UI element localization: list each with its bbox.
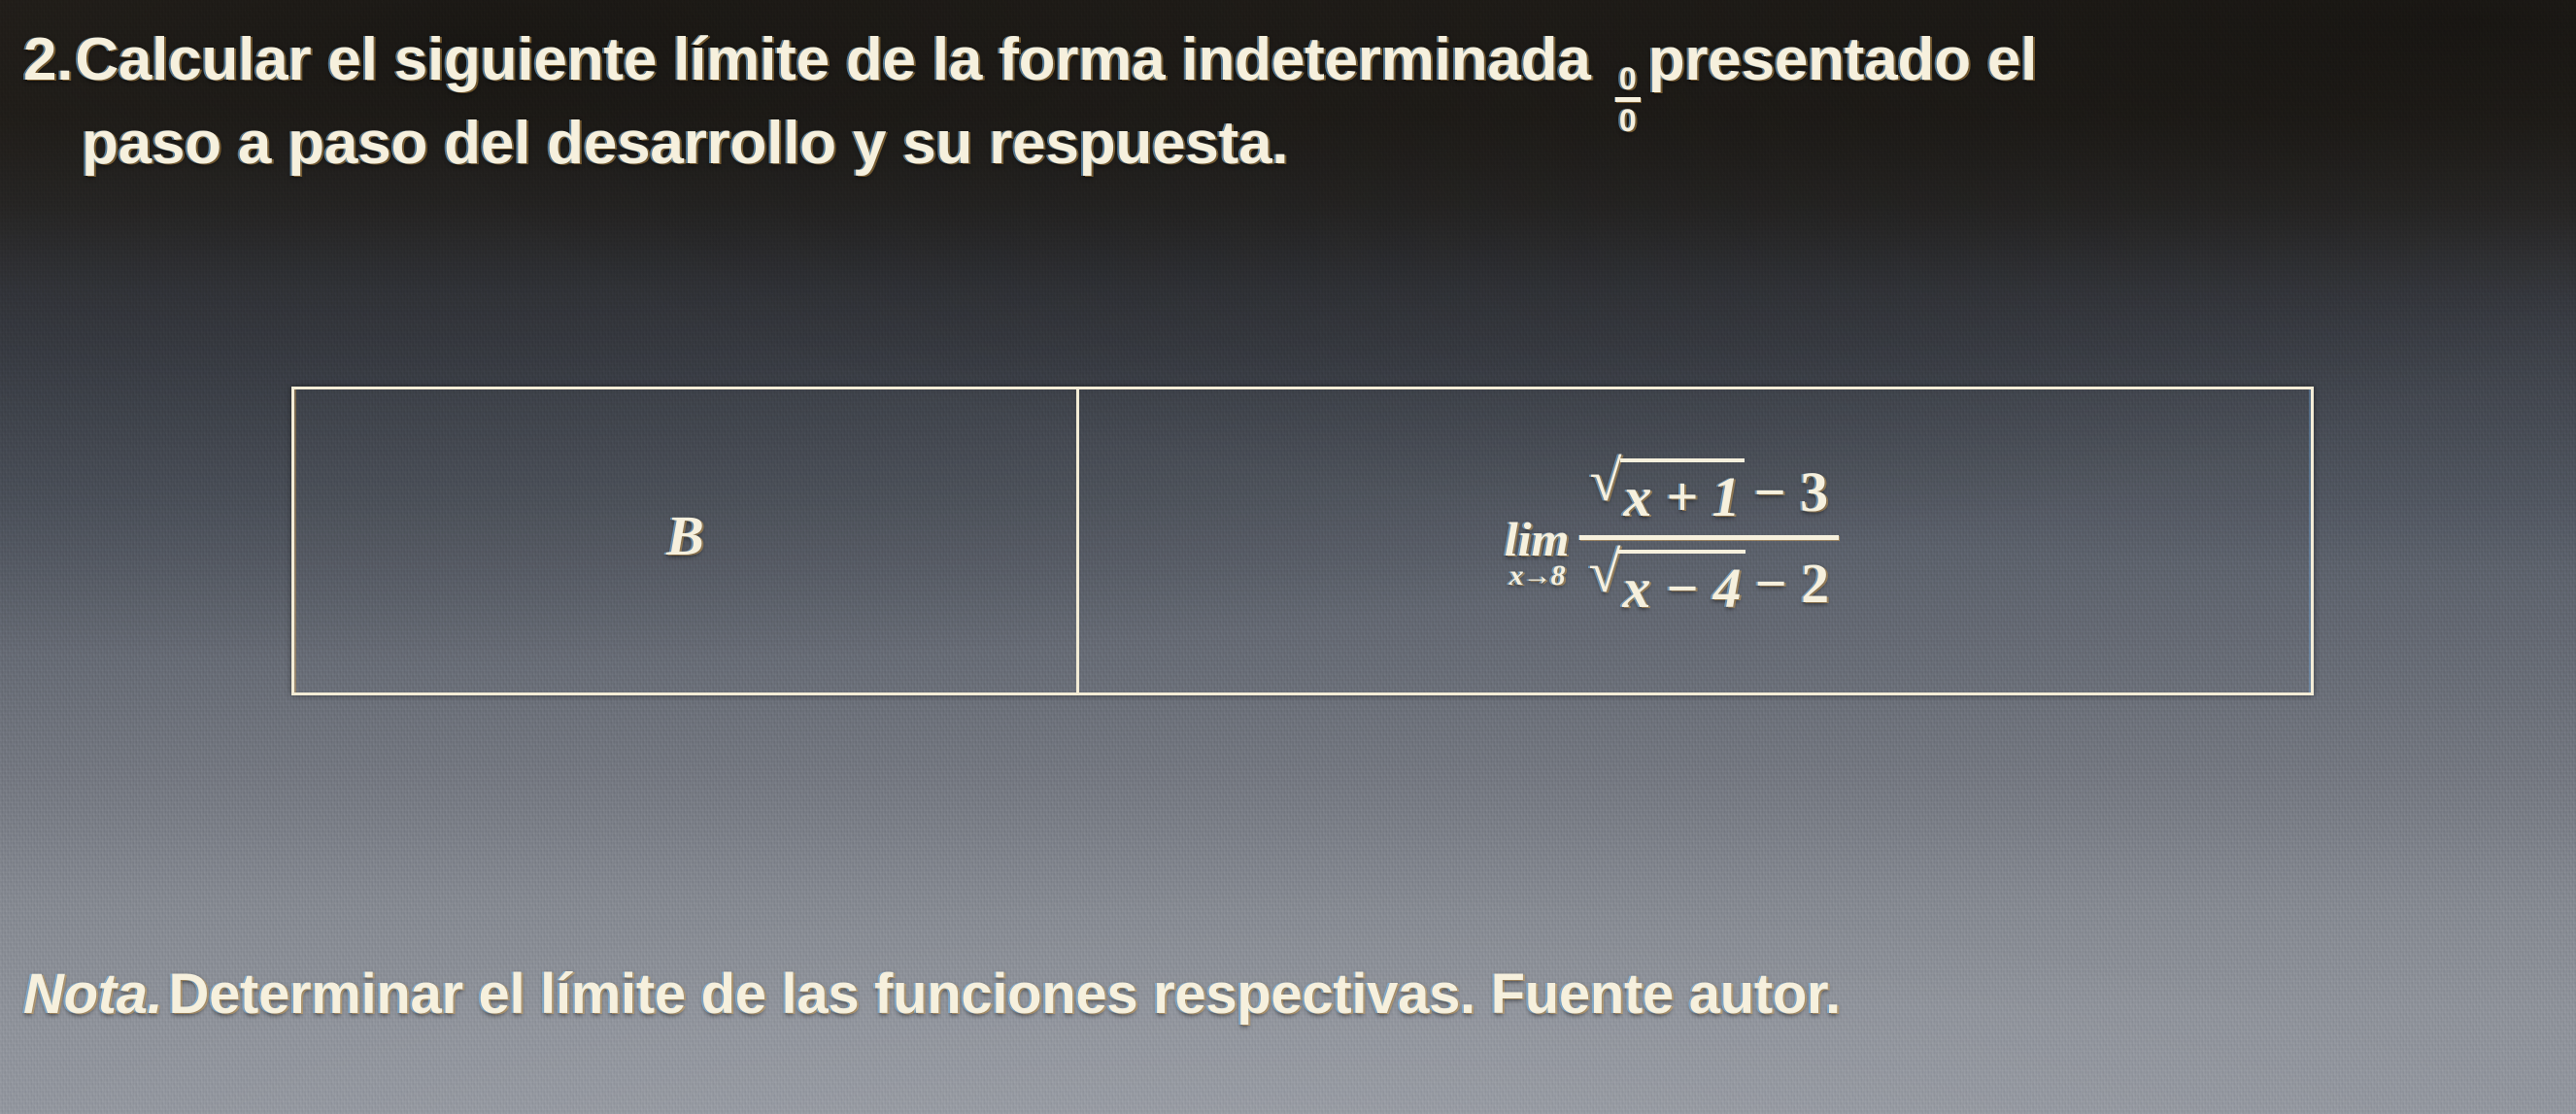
- limit-operator-label: lim: [1505, 515, 1570, 563]
- table-cell-expression: lim x→8 √ x + 1 − 3 √ x − 4: [1079, 389, 2311, 692]
- fraction-numerator: 0: [1617, 63, 1639, 94]
- fraction-bar: [1615, 97, 1641, 102]
- radical-sign-icon: √: [1590, 455, 1622, 507]
- exercise-letter: B: [666, 503, 704, 568]
- radical-sign-icon: √: [1589, 546, 1621, 598]
- denominator-outside-term: − 2: [1755, 551, 1830, 616]
- denominator-radicand: x − 4: [1618, 550, 1745, 621]
- indeterminate-form-fraction: 0 0: [1615, 63, 1641, 136]
- question-text-before-fraction: Calcular el siguiente límite de la forma…: [75, 26, 1590, 93]
- question-heading-line2: paso a paso del desarrollo y su respuest…: [82, 109, 1288, 180]
- denominator-radical: √ x − 4: [1589, 548, 1746, 619]
- limit-fraction: √ x + 1 − 3 √ x − 4 − 2: [1579, 455, 1840, 621]
- note-text: Determinar el límite de las funciones re…: [169, 962, 1841, 1026]
- question-heading: 2.Calcular el siguiente límite de la for…: [23, 25, 2576, 136]
- note-label: Nota.: [23, 962, 163, 1026]
- limit-numerator: √ x + 1 − 3: [1579, 455, 1840, 529]
- fraction-denominator: 0: [1617, 105, 1639, 136]
- question-number: 2.: [23, 26, 73, 93]
- numerator-radical: √ x + 1: [1590, 456, 1745, 527]
- figure-note: Nota.Determinar el límite de las funcion…: [23, 962, 1841, 1027]
- question-text-after-fraction: presentado el: [1648, 26, 2038, 93]
- numerator-outside-term: − 3: [1754, 459, 1829, 524]
- limit-fraction-bar: [1579, 535, 1840, 540]
- limit-subscript: x→8: [1509, 561, 1565, 591]
- numerator-radicand: x + 1: [1620, 458, 1745, 529]
- limit-denominator: √ x − 4 − 2: [1579, 546, 1840, 621]
- limit-table: B lim x→8 √ x + 1 − 3 √: [291, 387, 2314, 695]
- limit-operator: lim x→8: [1505, 515, 1570, 591]
- table-cell-label: B: [294, 389, 1079, 692]
- limit-expression: lim x→8 √ x + 1 − 3 √ x − 4: [1505, 455, 1839, 621]
